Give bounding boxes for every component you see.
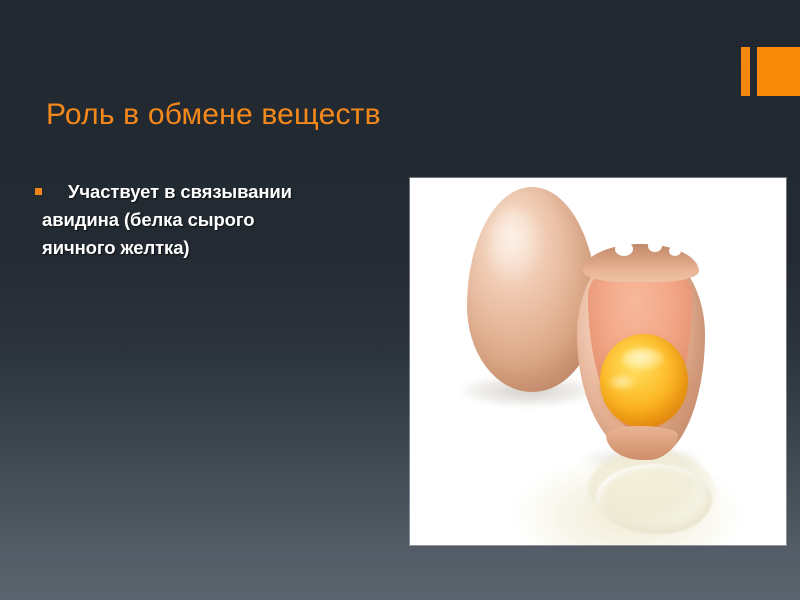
egg-yolk-highlight-primary xyxy=(622,348,664,370)
shell-notch-three xyxy=(669,246,681,256)
slide-title: Роль в обмене веществ xyxy=(46,98,466,132)
accent-bar-icon xyxy=(741,47,750,96)
shell-notch-one xyxy=(615,242,633,256)
bullet-item: Участвует в связывании авидина (белка сы… xyxy=(32,178,388,262)
slide-image-frame xyxy=(410,178,786,545)
egg-shell-broken-rim xyxy=(583,244,699,282)
bullet-line-3: яичного желтка) xyxy=(42,237,189,258)
egg-photo xyxy=(410,178,786,545)
slide-body: Участвует в связывании авидина (белка сы… xyxy=(32,178,388,262)
accent-decoration xyxy=(741,47,800,96)
presentation-slide: Роль в обмене веществ Участвует в связыв… xyxy=(0,0,800,600)
square-bullet-icon xyxy=(35,188,42,195)
bullet-line-2: авидина (белка сырого xyxy=(42,209,254,230)
bullet-line-1: Участвует в связывании xyxy=(68,181,292,202)
whole-egg-highlight xyxy=(488,208,540,282)
bullet-text: Участвует в связывании авидина (белка сы… xyxy=(42,178,388,262)
shell-notch-two xyxy=(648,240,662,252)
accent-block-icon xyxy=(757,47,800,96)
egg-yolk-highlight-secondary xyxy=(608,374,636,390)
